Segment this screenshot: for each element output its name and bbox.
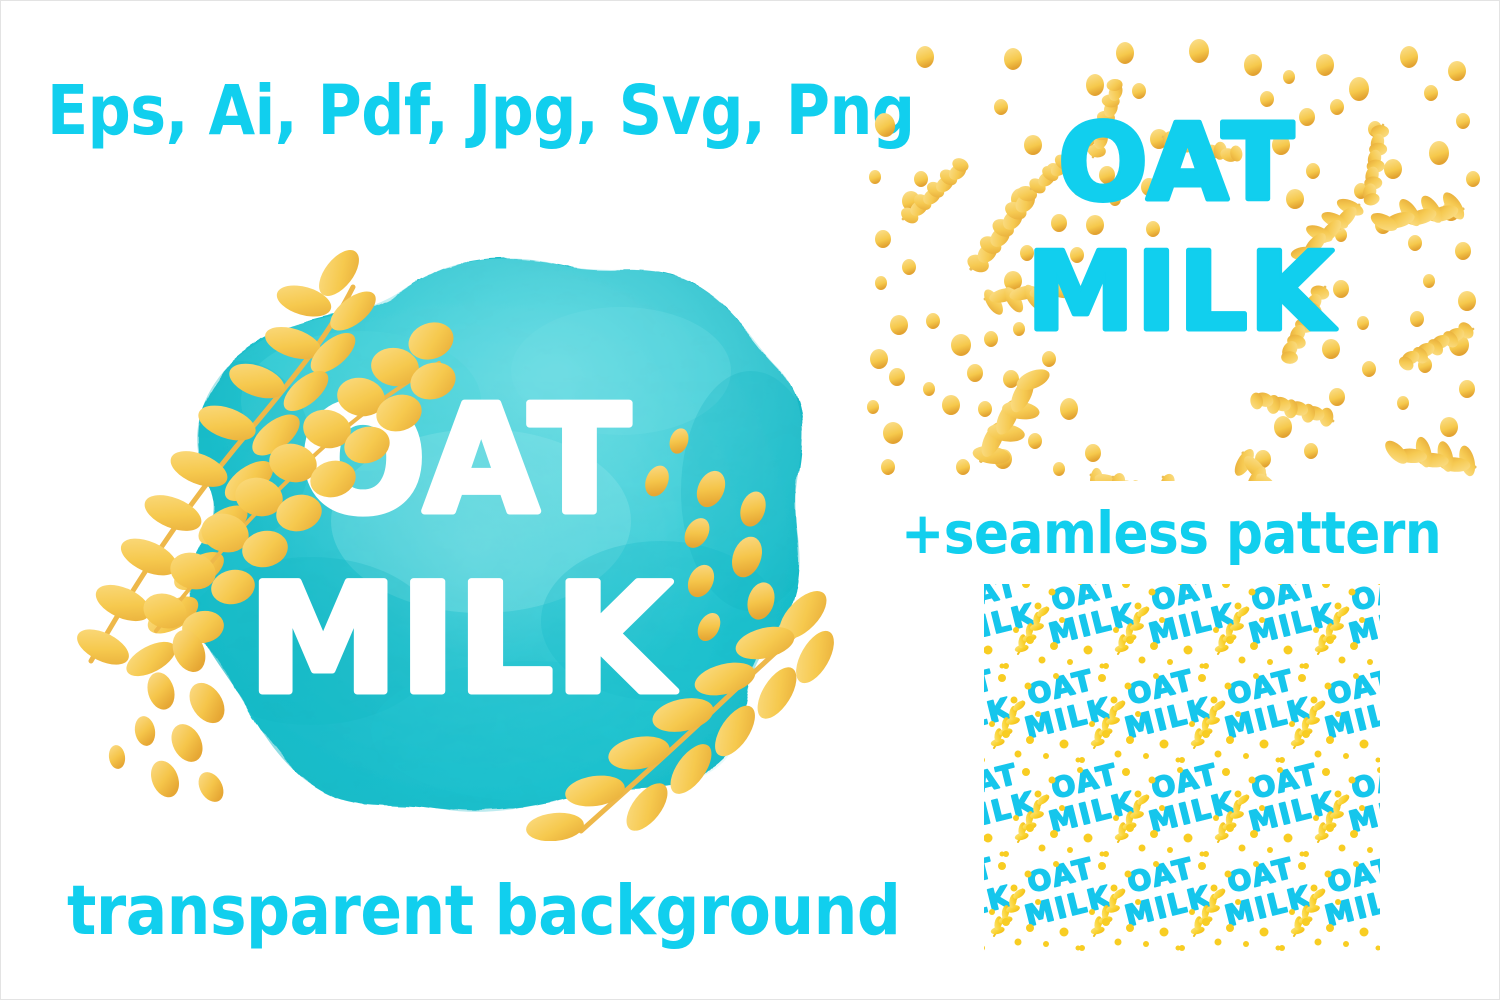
transparent-background-label: transparent background xyxy=(67,877,900,946)
main-artwork: OAT MILK xyxy=(61,191,861,841)
svg-text:OAT: OAT xyxy=(1058,102,1295,224)
pattern-card: OAT MILK xyxy=(863,29,1491,481)
pattern-card-title: OAT MILK xyxy=(1027,102,1336,355)
seamless-pattern-label: +seamless pattern xyxy=(901,504,1441,562)
svg-text:MILK: MILK xyxy=(1027,230,1336,355)
formats-label: Eps, Ai, Pdf, Jpg, Svg, Png xyxy=(47,77,915,146)
seamless-pattern-swatch: OAT MILK xyxy=(984,584,1380,957)
svg-text:MILK: MILK xyxy=(249,553,677,727)
product-preview-canvas: Eps, Ai, Pdf, Jpg, Svg, Png xyxy=(0,0,1500,1000)
